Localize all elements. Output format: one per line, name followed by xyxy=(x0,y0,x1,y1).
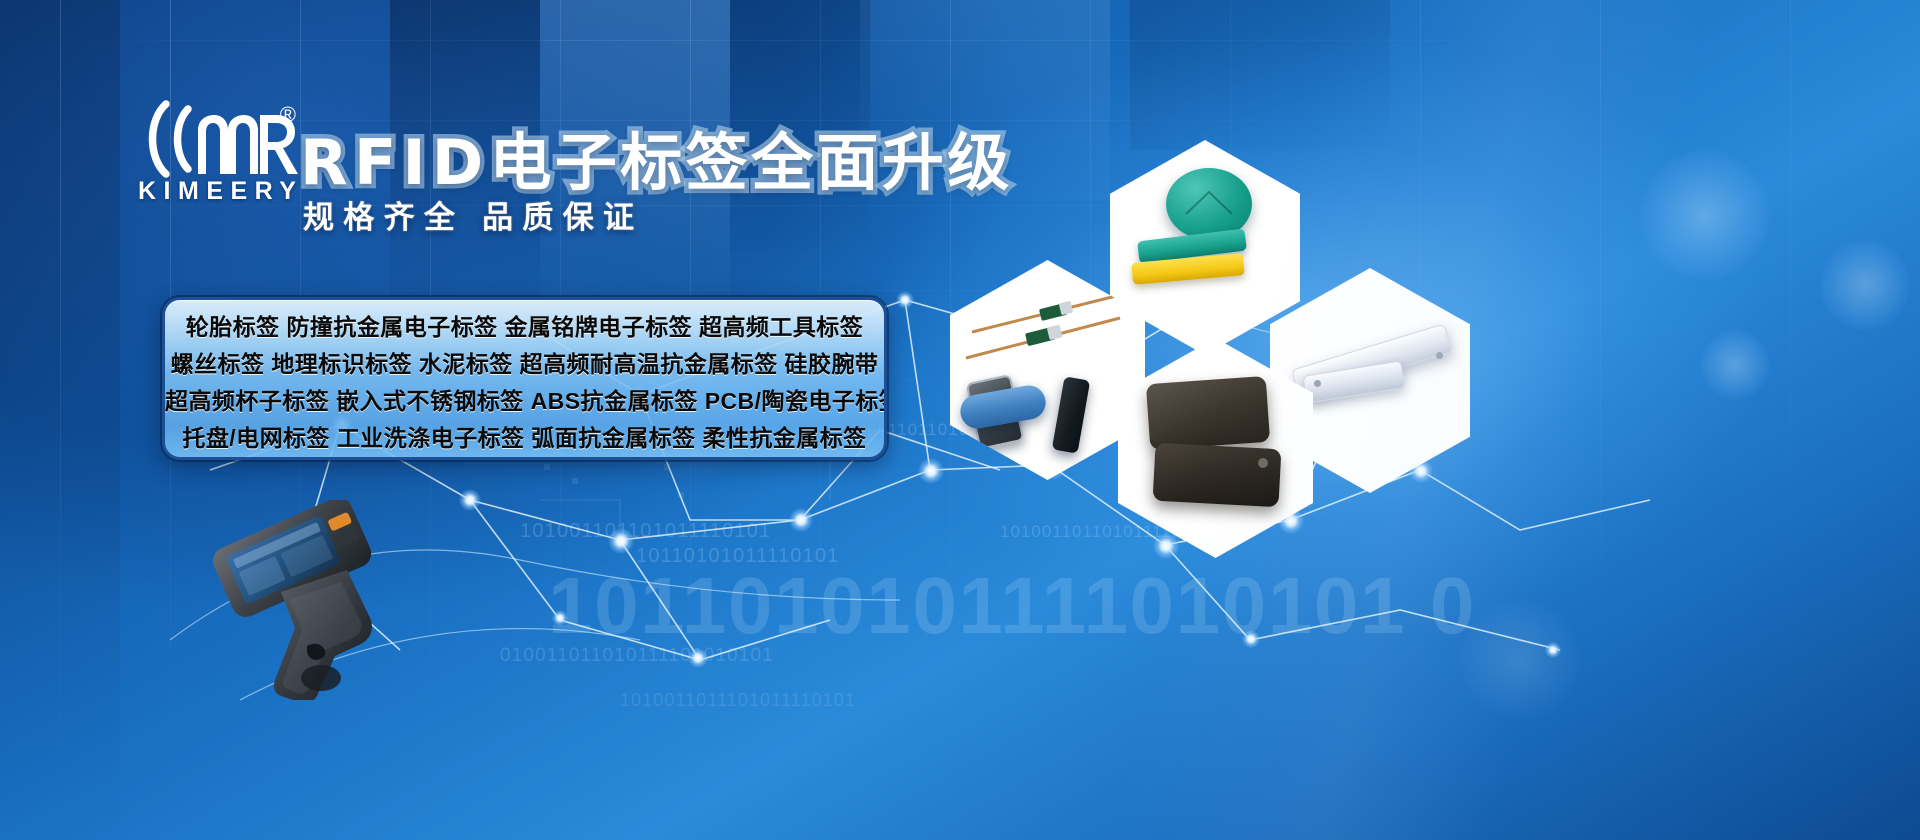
dark-grey-ceramic-tag xyxy=(1153,443,1282,508)
bokeh-light xyxy=(1820,240,1910,330)
registered-trademark-icon: ® xyxy=(280,102,296,128)
network-node xyxy=(459,489,481,511)
page-title: RFID电子标签全面升级 xyxy=(300,112,1013,202)
list-item: 螺丝标签 地理标识标签 水泥标签 超高频耐高温抗金属标签 硅胶腕带 xyxy=(165,346,884,383)
product-tag-list-panel: 轮胎标签 防撞抗金属电子标签 金属铭牌电子标签 超高频工具标签 螺丝标签 地理标… xyxy=(162,297,887,460)
binary-text-line: 1010011011101011110101 xyxy=(620,690,856,711)
list-item: 托盘/电网标签 工业洗涤电子标签 弧面抗金属标签 柔性抗金属标签 xyxy=(165,420,884,457)
binary-text-line: 010011011010111101010101 xyxy=(500,645,774,667)
grid-line-vertical xyxy=(60,0,61,840)
background-panel xyxy=(0,0,120,840)
brand-logo[interactable]: ® KIMEERY xyxy=(132,96,302,206)
product-showcase xyxy=(940,120,1500,540)
tag-mount-hole xyxy=(1436,352,1443,359)
bokeh-light xyxy=(1460,600,1580,720)
uhf-handheld-reader[interactable] xyxy=(185,500,415,700)
binary-headline-text: 1011010101111010101 0 xyxy=(548,560,1476,652)
network-node xyxy=(1242,630,1260,648)
kimeery-signal-logo-icon xyxy=(132,96,302,182)
glass-tube-tag-b xyxy=(960,308,1130,380)
dark-ceramic-tag xyxy=(1052,376,1090,453)
headline-latin: RFID xyxy=(300,126,489,199)
network-node xyxy=(896,291,914,309)
network-node xyxy=(789,508,813,532)
grid-line-horizontal xyxy=(0,40,1920,41)
brand-wordmark: KIMEERY xyxy=(138,177,303,206)
network-node xyxy=(1545,642,1561,658)
tag-mount-hole xyxy=(1258,458,1268,468)
bokeh-light xyxy=(1700,330,1770,400)
headline-chinese: 电子标签全面升级 xyxy=(489,126,1012,199)
black-ceramic-tag-large xyxy=(1146,376,1270,450)
network-node xyxy=(608,528,634,554)
network-node xyxy=(688,648,708,668)
rfid-promo-banner: 01001101101011110101 1010011011010111101… xyxy=(0,0,1920,840)
grid-line-vertical xyxy=(1790,0,1791,840)
binary-text-line: 10110101011110101 xyxy=(636,545,840,568)
tag-mount-hole xyxy=(1314,380,1321,387)
grid-line-vertical xyxy=(1600,0,1601,840)
binary-text-line: 101001101101011110101 xyxy=(520,520,771,543)
bokeh-light xyxy=(1640,150,1770,280)
page-subtitle: 规格齐全 品质保证 xyxy=(303,192,643,237)
list-item: 轮胎标签 防撞抗金属电子标签 金属铭牌电子标签 超高频工具标签 xyxy=(165,309,884,346)
handheld-reader-icon xyxy=(185,500,415,700)
network-node xyxy=(552,610,568,626)
list-item: 超高频杯子标签 嵌入式不锈钢标签 ABS抗金属标签 PCB/陶瓷电子标签 xyxy=(165,383,884,420)
product-tag-list: 轮胎标签 防撞抗金属电子标签 金属铭牌电子标签 超高频工具标签 螺丝标签 地理标… xyxy=(165,300,884,457)
disc-emboss-icon xyxy=(1182,184,1236,224)
